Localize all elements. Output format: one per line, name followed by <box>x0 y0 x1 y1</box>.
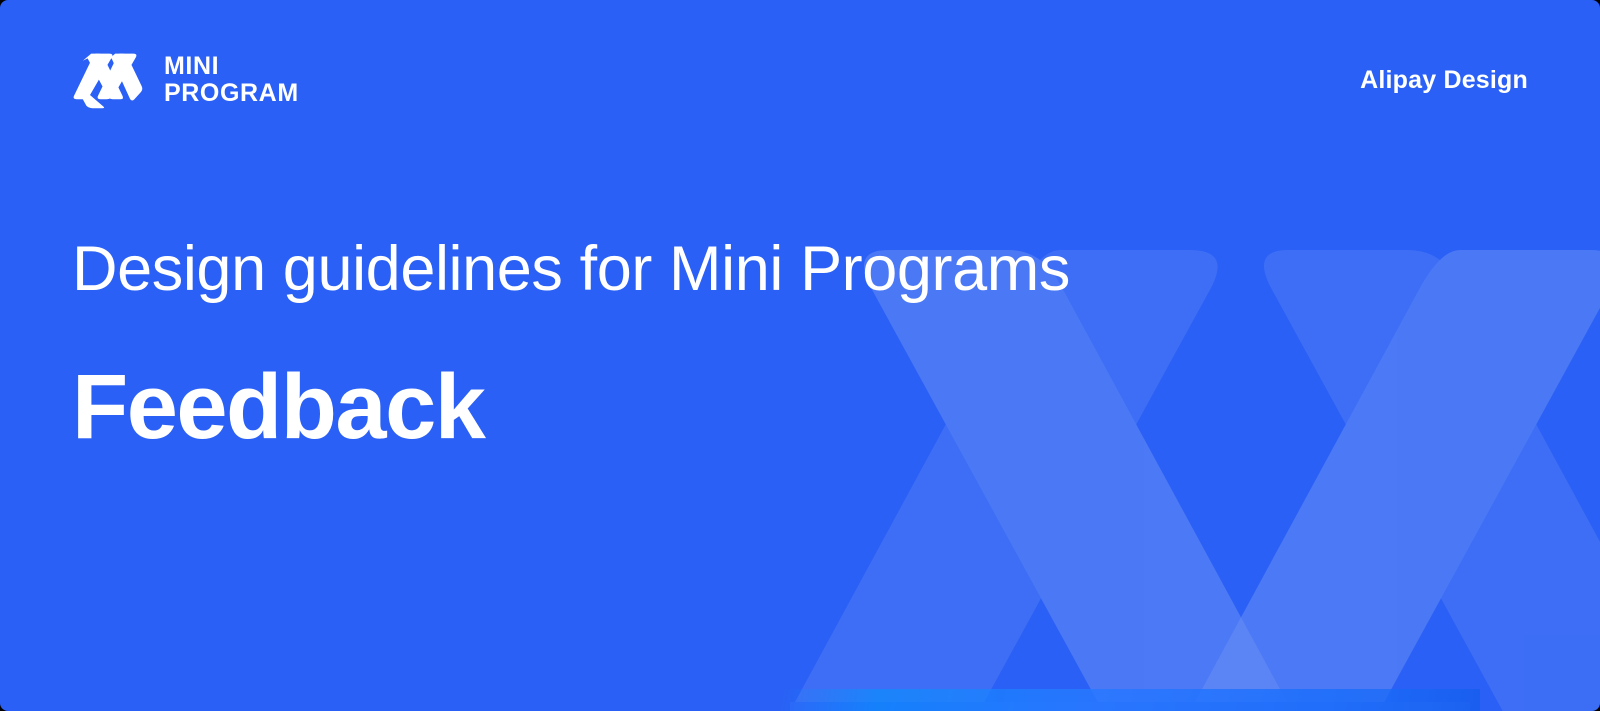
bottom-edge-artifact <box>780 689 1480 711</box>
banner-title: Feedback <box>72 361 1192 453</box>
brand-lockup: MINI PROGRAM <box>72 50 299 110</box>
mini-program-hexagon-logo-icon <box>72 50 144 110</box>
banner-canvas: MINI PROGRAM Alipay Design Design guidel… <box>0 0 1600 711</box>
org-name: Alipay Design <box>1360 66 1528 95</box>
brand-wordmark-line2: PROGRAM <box>164 80 299 107</box>
brand-wordmark-line1: MINI <box>164 53 299 80</box>
banner-subtitle: Design guidelines for Mini Programs <box>72 238 1192 301</box>
banner-header: MINI PROGRAM Alipay Design <box>0 0 1600 160</box>
bottom-edge-lip <box>790 702 1470 711</box>
brand-wordmark: MINI PROGRAM <box>164 53 299 107</box>
banner-copy: Design guidelines for Mini Programs Feed… <box>72 238 1192 453</box>
